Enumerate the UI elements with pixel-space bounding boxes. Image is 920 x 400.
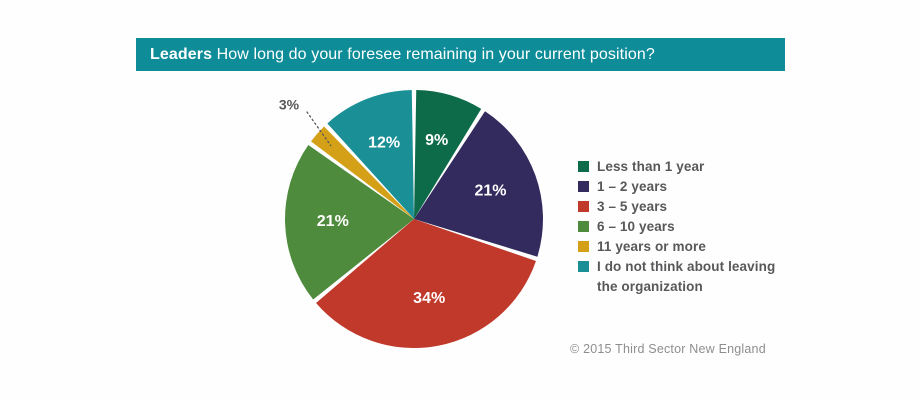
pie-chart-svg: 9%21%34%21%3%12% <box>270 76 570 366</box>
legend-swatch-icon <box>578 161 589 172</box>
pie-slice-value-label: 34% <box>413 290 445 307</box>
legend-label: 6 – 10 years <box>597 218 675 235</box>
legend-label-wrap-line: the organization <box>597 278 803 295</box>
legend-swatch-icon <box>578 221 589 232</box>
pie-chart: 9%21%34%21%3%12% <box>270 76 570 366</box>
legend-swatch-icon <box>578 181 589 192</box>
chart-legend: Less than 1 year 1 – 2 years 3 – 5 years… <box>578 158 803 295</box>
banner-title-question: How long do your foresee remaining in yo… <box>212 46 655 64</box>
legend-item-3-5-years[interactable]: 3 – 5 years <box>578 198 803 215</box>
legend-item-less-than-1-year[interactable]: Less than 1 year <box>578 158 803 175</box>
legend-swatch-icon <box>578 201 589 212</box>
legend-label: Less than 1 year <box>597 158 704 175</box>
banner-title-strong: Leaders <box>150 46 212 64</box>
legend-label: 11 years or more <box>597 238 706 255</box>
legend-label: I do not think about leaving <box>597 258 775 275</box>
legend-item-6-10-years[interactable]: 6 – 10 years <box>578 218 803 235</box>
pie-slice-value-label: 9% <box>425 132 448 149</box>
legend-item-11-years-or-more[interactable]: 11 years or more <box>578 238 803 255</box>
legend-label: 1 – 2 years <box>597 178 667 195</box>
legend-swatch-icon <box>578 241 589 252</box>
legend-swatch-icon <box>578 261 589 272</box>
legend-item-1-2-years[interactable]: 1 – 2 years <box>578 178 803 195</box>
chart-canvas: Leaders How long do your foresee remaini… <box>0 0 920 400</box>
pie-slice-value-label: 12% <box>368 135 400 152</box>
pie-slice-value-label: 21% <box>474 183 506 200</box>
legend-label: 3 – 5 years <box>597 198 667 215</box>
pie-slice-value-label: 21% <box>317 213 349 230</box>
pie-slice-callout-label: 3% <box>279 97 300 113</box>
legend-item-not-thinking-about-leaving[interactable]: I do not think about leaving <box>578 258 803 275</box>
copyright-notice: © 2015 Third Sector New England <box>570 342 766 356</box>
chart-header-banner: Leaders How long do your foresee remaini… <box>136 38 785 71</box>
